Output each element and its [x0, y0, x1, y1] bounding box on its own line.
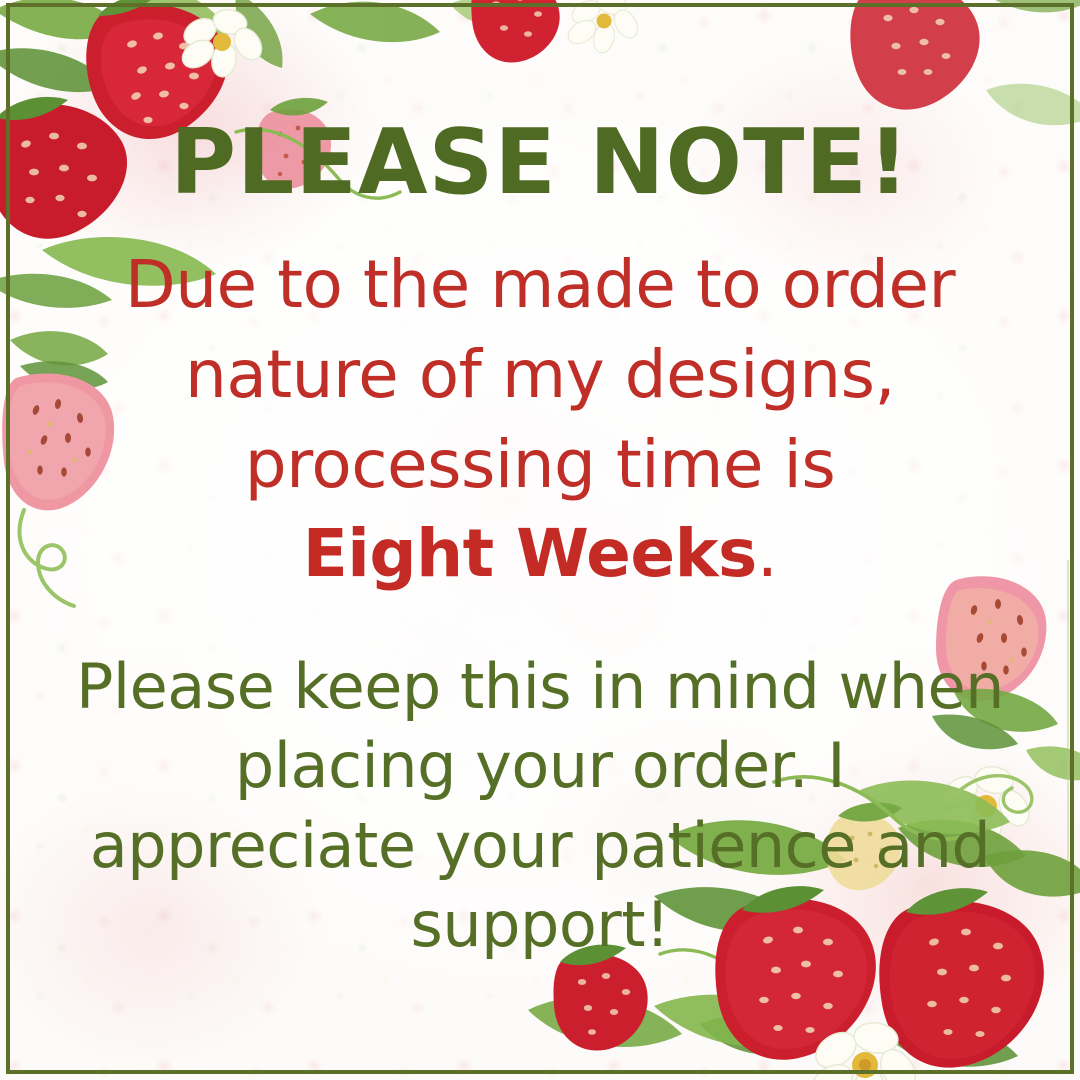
patience-message: Please keep this in mind when placing yo… — [45, 647, 1035, 964]
notice-line-1: Due to the made to order — [60, 240, 1020, 330]
processing-time-notice: Due to the made to order nature of my de… — [60, 240, 1020, 599]
announcement-card: PLEASE NOTE! Due to the made to order na… — [0, 0, 1080, 1080]
message-line-3: appreciate your patience and — [45, 806, 1035, 885]
notice-line-2: nature of my designs, — [60, 330, 1020, 420]
notice-line-3: processing time is — [60, 420, 1020, 510]
notice-period: . — [757, 515, 777, 592]
message-line-1: Please keep this in mind when — [45, 647, 1035, 726]
notice-emphasis-line: Eight Weeks. — [60, 509, 1020, 599]
message-line-4: support! — [45, 885, 1035, 964]
page-title: PLEASE NOTE! — [170, 118, 910, 208]
text-content: PLEASE NOTE! Due to the made to order na… — [0, 0, 1080, 1080]
processing-time-value: Eight Weeks — [303, 515, 757, 592]
message-line-2: placing your order. I — [45, 726, 1035, 805]
